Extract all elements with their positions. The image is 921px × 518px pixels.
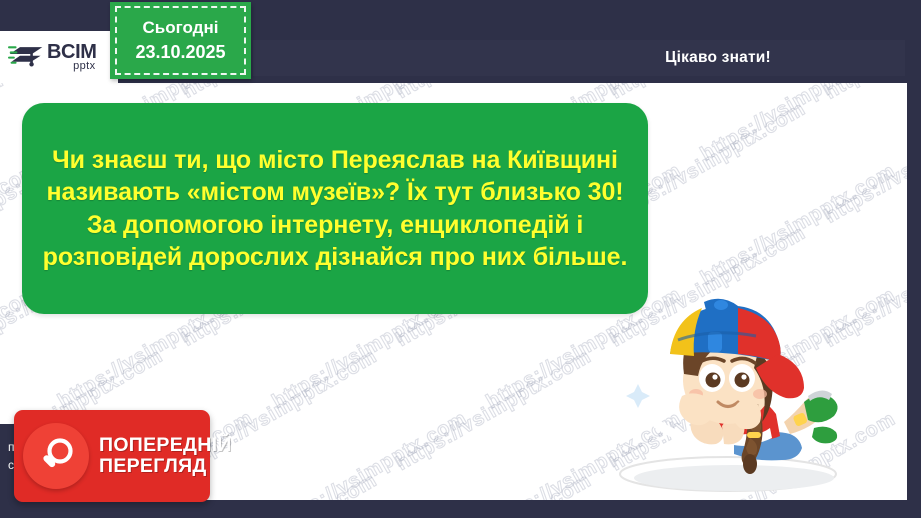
slide-title-bar: Цікаво знати! (253, 40, 905, 76)
preview-badge-line-2: ПЕРЕГЛЯД (99, 456, 232, 477)
preview-badge[interactable]: ПОПЕРЕДНІЙ ПЕРЕГЛЯД (14, 410, 210, 502)
date-tag-value: 23.10.2025 (135, 42, 225, 63)
bottom-dark-strip (0, 500, 921, 518)
girl-lying-with-cap-illustration (608, 292, 848, 502)
info-card-text: Чи знаєш ти, що місто Переяслав на Київщ… (36, 144, 634, 274)
info-card: Чи знаєш ти, що місто Переяслав на Київщ… (22, 103, 648, 314)
date-tag: Сьогодні 23.10.2025 (110, 2, 251, 79)
watermark-text: https://vsimpptx.com https://vsimpptx.co… (0, 83, 907, 103)
page-title: Цікаво знати! (665, 49, 771, 67)
slide-root: https://vsimpptx.com https://vsimpptx.co… (0, 0, 921, 518)
right-edge-strip (907, 0, 921, 518)
date-tag-label: Сьогодні (143, 18, 219, 38)
graduation-cap-icon (8, 42, 44, 72)
brand-logo[interactable]: BCIM pptx (0, 31, 118, 83)
preview-badge-label: ПОПЕРЕДНІЙ ПЕРЕГЛЯД (99, 435, 232, 477)
magnifier-icon (23, 423, 89, 489)
preview-badge-line-1: ПОПЕРЕДНІЙ (99, 435, 232, 456)
brand-logo-text: BCIM pptx (47, 42, 97, 72)
brand-name: BCIM (47, 42, 97, 62)
